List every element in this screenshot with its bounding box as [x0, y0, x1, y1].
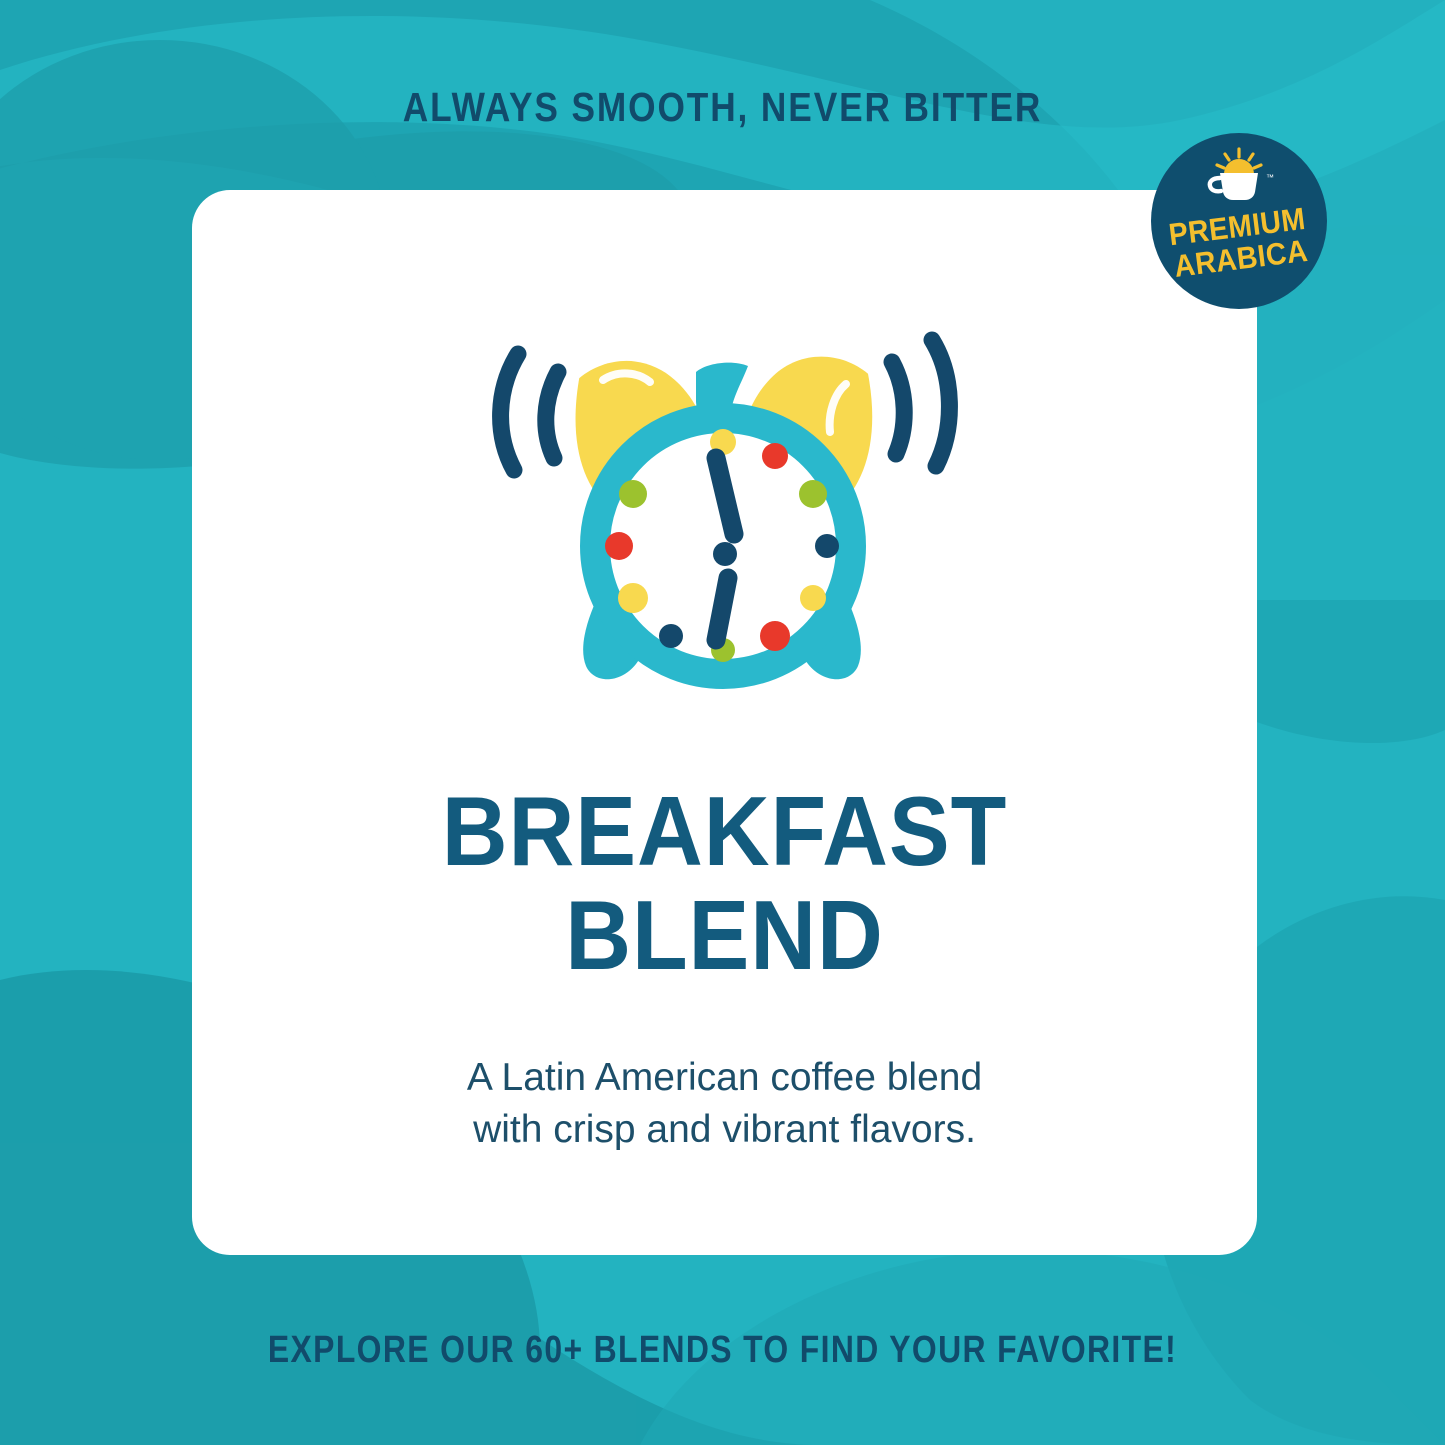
footer-tagline: EXPLORE OUR 60+ BLENDS TO FIND YOUR FAVO… [116, 1329, 1330, 1372]
product-title-line1: BREAKFAST [442, 776, 1007, 886]
coffee-cup-sunrise-icon: ™ [1202, 147, 1276, 203]
product-poster: ALWAYS SMOOTH, NEVER BITTER [0, 0, 1445, 1445]
alarm-clock-illustration [192, 300, 1257, 730]
header-tagline: ALWAYS SMOOTH, NEVER BITTER [101, 84, 1344, 131]
premium-arabica-badge: ™ PREMIUM ARABICA [1151, 133, 1327, 309]
description-line2: with crisp and vibrant flavors. [192, 1104, 1257, 1156]
description-line1: A Latin American coffee blend [192, 1052, 1257, 1104]
trademark-symbol: ™ [1266, 173, 1274, 182]
product-description: A Latin American coffee blend with crisp… [192, 1052, 1257, 1157]
sound-wave-right-icon [892, 340, 949, 466]
product-title-line2: BLEND [229, 884, 1219, 988]
page-title: BREAKFAST BLEND [229, 780, 1219, 988]
sound-wave-left-icon [500, 354, 557, 470]
